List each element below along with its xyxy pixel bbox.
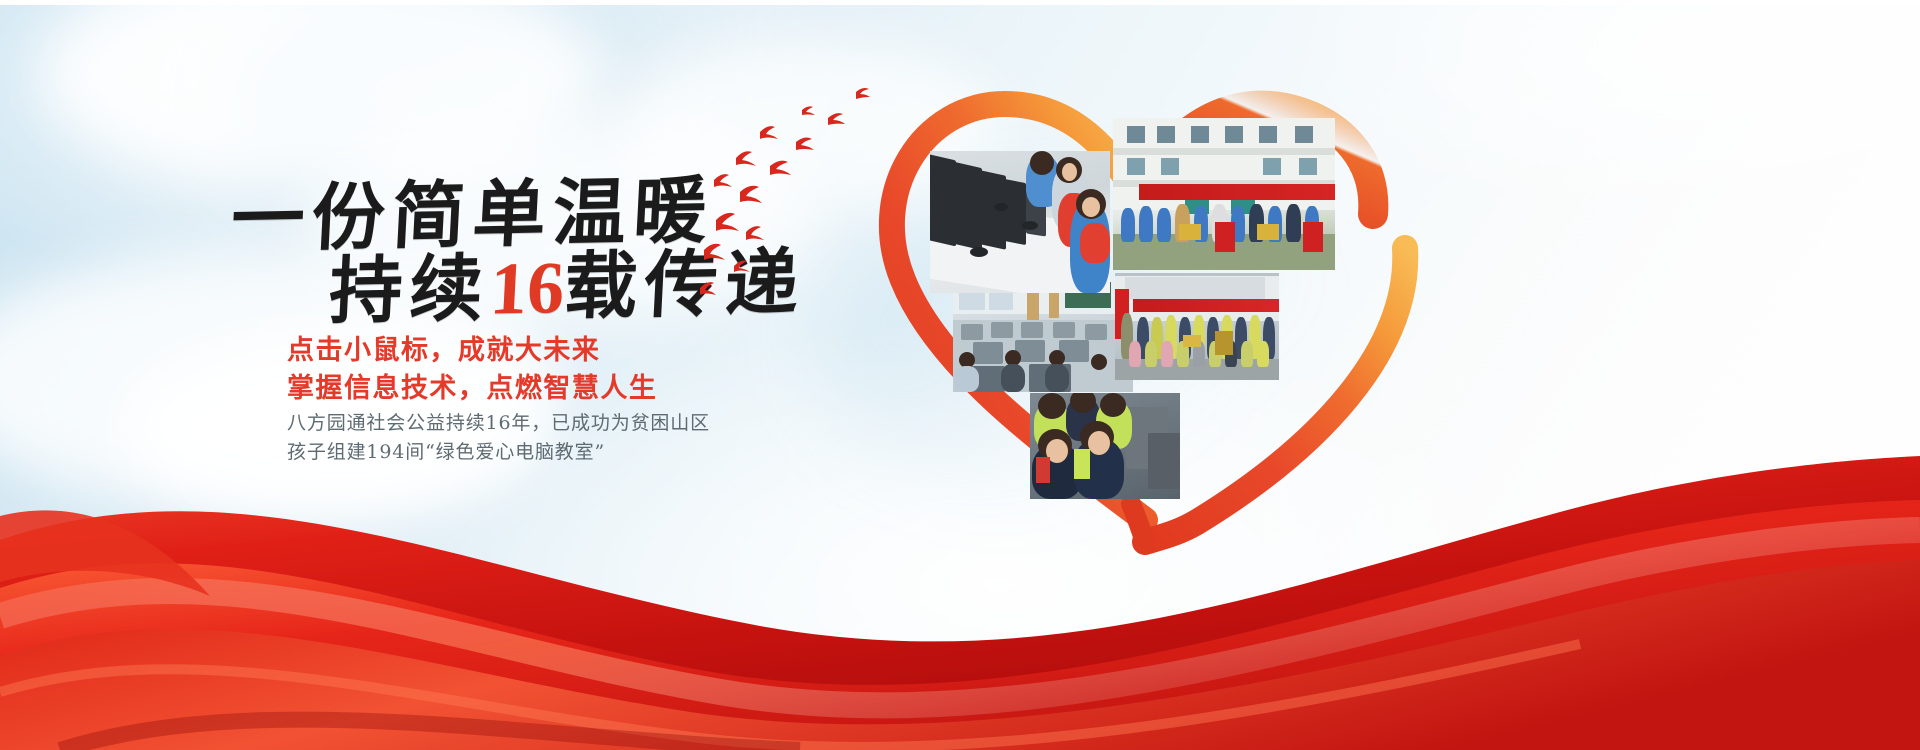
promo-banner: 一份简单温暖 持续16载传递 点击小鼠标，成就大未来 掌握信息技术，点燃智慧人生…: [0, 0, 1920, 750]
photo-group-photo-with-banner: [1115, 273, 1279, 380]
red-silk-ribbon-icon: [0, 420, 1920, 750]
photo-school-donation-ceremony: [1113, 118, 1335, 270]
subtitle-line-1: 点击小鼠标，成就大未来: [287, 328, 600, 367]
subtitle-line-2: 掌握信息技术，点燃智慧人生: [287, 366, 657, 405]
headline-years-number: 16: [488, 247, 566, 330]
top-edge-strip: [0, 0, 1920, 5]
photo-children-learning-closeup: [1030, 393, 1180, 499]
photo-computer-classroom-wide: [953, 280, 1133, 392]
photo-students-at-computers: [930, 151, 1110, 293]
headline-line-2-prefix: 持续: [327, 245, 492, 334]
